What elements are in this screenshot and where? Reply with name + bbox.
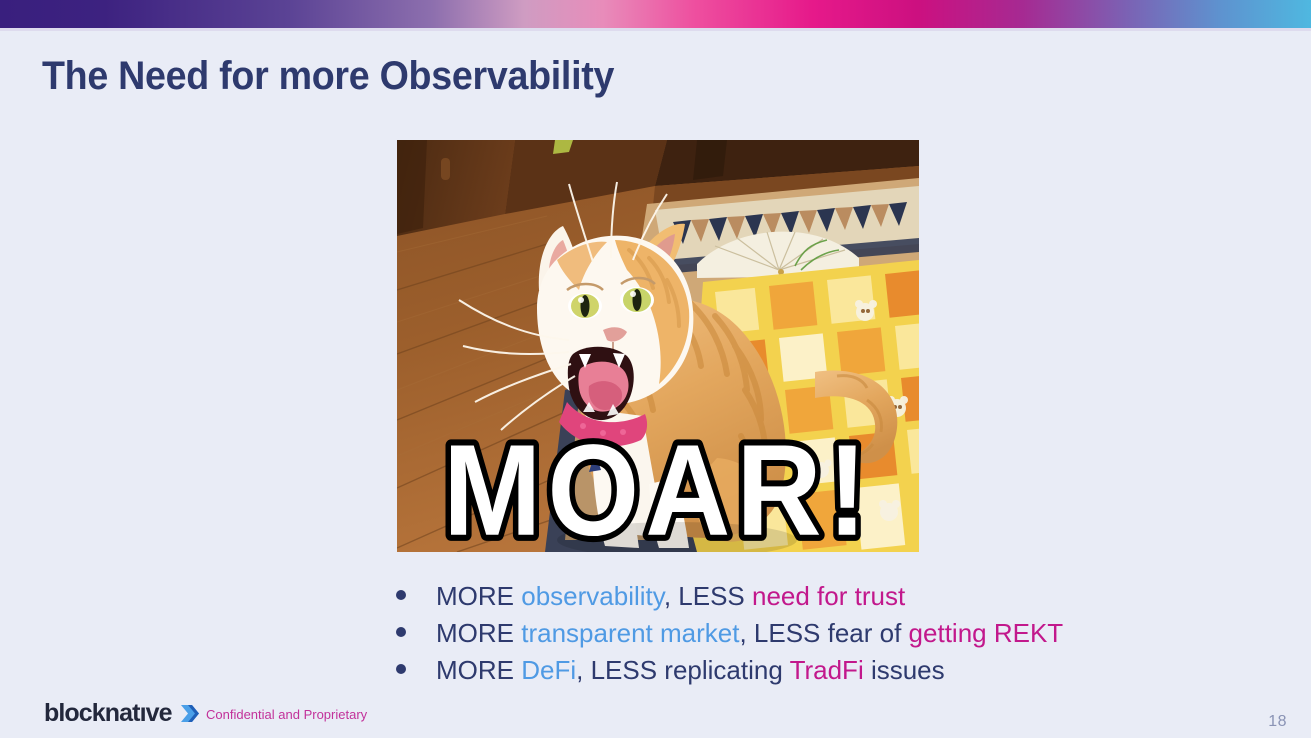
confidential-notice: Confidential and Proprietary [206, 707, 367, 722]
bullet-segment: , LESS replicating [576, 655, 789, 685]
brand-logo: blocknatıve [44, 700, 202, 726]
list-item: MORE transparent market, LESS fear of ge… [396, 620, 1156, 657]
meme-illustration: MOAR! [397, 140, 919, 552]
bullet-segment: MORE [436, 655, 521, 685]
bullet-segment: MORE [436, 618, 521, 648]
svg-text:MOAR!: MOAR! [443, 419, 873, 552]
bullet-text: MORE transparent market, LESS fear of ge… [436, 620, 1063, 646]
meme-image: MOAR! [397, 140, 919, 552]
bullet-segment: issues [864, 655, 945, 685]
bullet-segment-highlight: DeFi [521, 655, 576, 685]
bullet-segment-highlight: getting REKT [909, 618, 1064, 648]
blocknative-arrow-icon [179, 702, 202, 725]
bullet-segment: MORE [436, 581, 521, 611]
page-number: 18 [1268, 713, 1287, 731]
top-gradient-bar [0, 0, 1311, 28]
bullet-dot-icon [396, 590, 406, 600]
bullet-segment-highlight: transparent market [521, 618, 739, 648]
bullet-list: MORE observability, LESS need for trust … [396, 583, 1156, 694]
top-bar-underline [0, 28, 1311, 31]
bullet-segment-highlight: need for trust [752, 581, 905, 611]
bullet-dot-icon [396, 664, 406, 674]
bullet-segment-highlight: observability [521, 581, 664, 611]
slide: The Need for more Observability [0, 0, 1311, 738]
list-item: MORE observability, LESS need for trust [396, 583, 1156, 620]
page-title: The Need for more Observability [42, 54, 614, 99]
brand-logo-text: blocknatıve [44, 701, 172, 726]
bullet-text: MORE DeFi, LESS replicating TradFi issue… [436, 657, 945, 683]
bullet-dot-icon [396, 627, 406, 637]
bullet-segment-highlight: TradFi [790, 655, 864, 685]
bullet-text: MORE observability, LESS need for trust [436, 583, 905, 609]
bullet-segment: , LESS [664, 581, 752, 611]
bullet-segment: , LESS fear of [739, 618, 908, 648]
list-item: MORE DeFi, LESS replicating TradFi issue… [396, 657, 1156, 694]
